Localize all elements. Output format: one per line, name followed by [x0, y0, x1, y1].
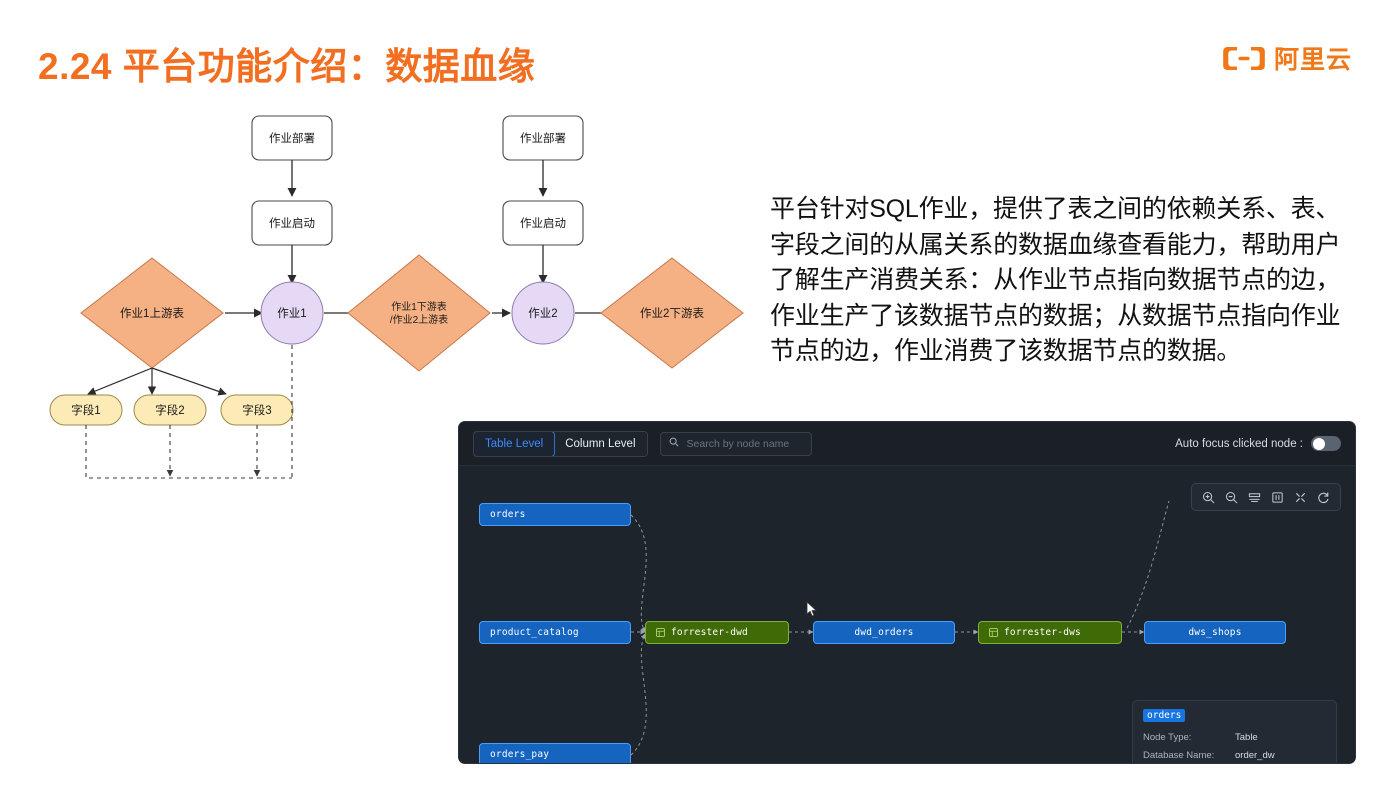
level-tab-group: Table Level Column Level [473, 431, 648, 457]
graph-node-product-catalog[interactable]: product_catalog [479, 621, 631, 644]
node-start-1: 作业启动 [252, 201, 332, 245]
node-upstream-table-1: 作业1上游表 [81, 258, 223, 368]
tooltip-value: Table [1235, 729, 1258, 747]
node-field-1: 字段1 [50, 395, 122, 425]
node-label: orders [490, 509, 526, 520]
search-input[interactable] [685, 437, 803, 451]
job-icon [656, 628, 665, 637]
svg-text:作业1下游表: 作业1下游表 [391, 300, 447, 313]
node-start-2: 作业启动 [503, 201, 583, 245]
node-deploy-2: 作业部署 [503, 116, 583, 160]
svg-text:作业部署: 作业部署 [269, 131, 315, 145]
svg-text:作业部署: 作业部署 [520, 131, 566, 145]
node-label: dwd_orders [854, 627, 913, 638]
node-label: forrester-dws [1004, 627, 1081, 638]
tooltip-row: Database Name: order_dw [1143, 747, 1326, 764]
svg-text:作业启动: 作业启动 [520, 217, 566, 230]
node-field-2: 字段2 [134, 395, 206, 425]
expand-icon[interactable] [1290, 487, 1311, 508]
node-detail-tooltip: orders Node Type: Table Database Name: o… [1132, 700, 1337, 764]
node-field-3: 字段3 [221, 395, 293, 425]
zoom-in-icon[interactable] [1198, 487, 1219, 508]
node-job-2: 作业2 [512, 282, 574, 344]
brand-logo: 阿里云 [1223, 40, 1352, 76]
graph-node-orders-pay[interactable]: orders_pay [479, 743, 631, 764]
alibaba-cloud-logo-icon [1223, 45, 1265, 72]
svg-text:字段1: 字段1 [71, 403, 100, 417]
node-label: orders_pay [490, 749, 549, 760]
svg-text:作业1上游表: 作业1上游表 [120, 306, 184, 320]
brand-name: 阿里云 [1274, 40, 1352, 76]
tooltip-value: order_dw [1235, 747, 1275, 764]
tab-column-level[interactable]: Column Level [554, 432, 646, 456]
node-middle-table: 作业1下游表 /作业2上游表 [348, 255, 490, 371]
lineage-screenshot-panel: Table Level Column Level Auto focus clic… [458, 421, 1356, 764]
node-deploy-1: 作业部署 [252, 116, 332, 160]
graph-node-orders[interactable]: orders [479, 503, 631, 526]
tooltip-row: Node Type: Table [1143, 729, 1326, 747]
auto-focus-label: Auto focus clicked node : [1175, 438, 1303, 450]
lineage-graph-canvas[interactable]: orders product_catalog forrester-dwd dwd… [459, 466, 1355, 763]
svg-text:作业2: 作业2 [528, 307, 557, 320]
tooltip-key: Database Name: [1143, 747, 1235, 764]
tab-table-level[interactable]: Table Level [473, 431, 555, 457]
node-downstream-table-2: 作业2下游表 [601, 258, 743, 368]
search-icon [669, 437, 679, 450]
svg-text:字段3: 字段3 [242, 403, 271, 417]
svg-text:/作业2上游表: /作业2上游表 [390, 313, 448, 326]
node-label: product_catalog [490, 627, 579, 638]
graph-node-dwd-orders[interactable]: dwd_orders [813, 621, 955, 644]
layout-horizontal-icon[interactable] [1244, 487, 1265, 508]
auto-focus-control: Auto focus clicked node : [1175, 436, 1341, 451]
search-box[interactable] [660, 432, 812, 456]
graph-node-forrester-dws[interactable]: forrester-dws [978, 621, 1122, 644]
node-label: forrester-dwd [671, 627, 748, 638]
svg-text:字段2: 字段2 [155, 403, 184, 417]
toggle-knob [1313, 438, 1325, 450]
lineage-toolbar: Table Level Column Level Auto focus clic… [459, 422, 1355, 466]
node-label: dws_shops [1188, 627, 1241, 638]
graph-node-forrester-dwd[interactable]: forrester-dwd [645, 621, 789, 644]
svg-text:作业1: 作业1 [277, 307, 306, 320]
graph-tools [1191, 483, 1341, 511]
graph-node-dws-shops[interactable]: dws_shops [1144, 621, 1286, 644]
svg-text:作业2下游表: 作业2下游表 [640, 306, 704, 320]
page-title: 2.24 平台功能介绍：数据血缘 [38, 36, 535, 90]
job-icon [989, 628, 998, 637]
auto-focus-toggle[interactable] [1311, 436, 1341, 451]
tooltip-node-name: orders [1143, 709, 1185, 722]
feature-description: 平台针对SQL作业，提供了表之间的依赖关系、表、字段之间的从属关系的数据血缘查看… [770, 192, 1350, 370]
refresh-icon[interactable] [1313, 487, 1334, 508]
node-job-1: 作业1 [261, 282, 323, 344]
fit-view-icon[interactable] [1267, 487, 1288, 508]
zoom-out-icon[interactable] [1221, 487, 1242, 508]
svg-text:作业启动: 作业启动 [269, 217, 315, 230]
tooltip-key: Node Type: [1143, 729, 1235, 747]
